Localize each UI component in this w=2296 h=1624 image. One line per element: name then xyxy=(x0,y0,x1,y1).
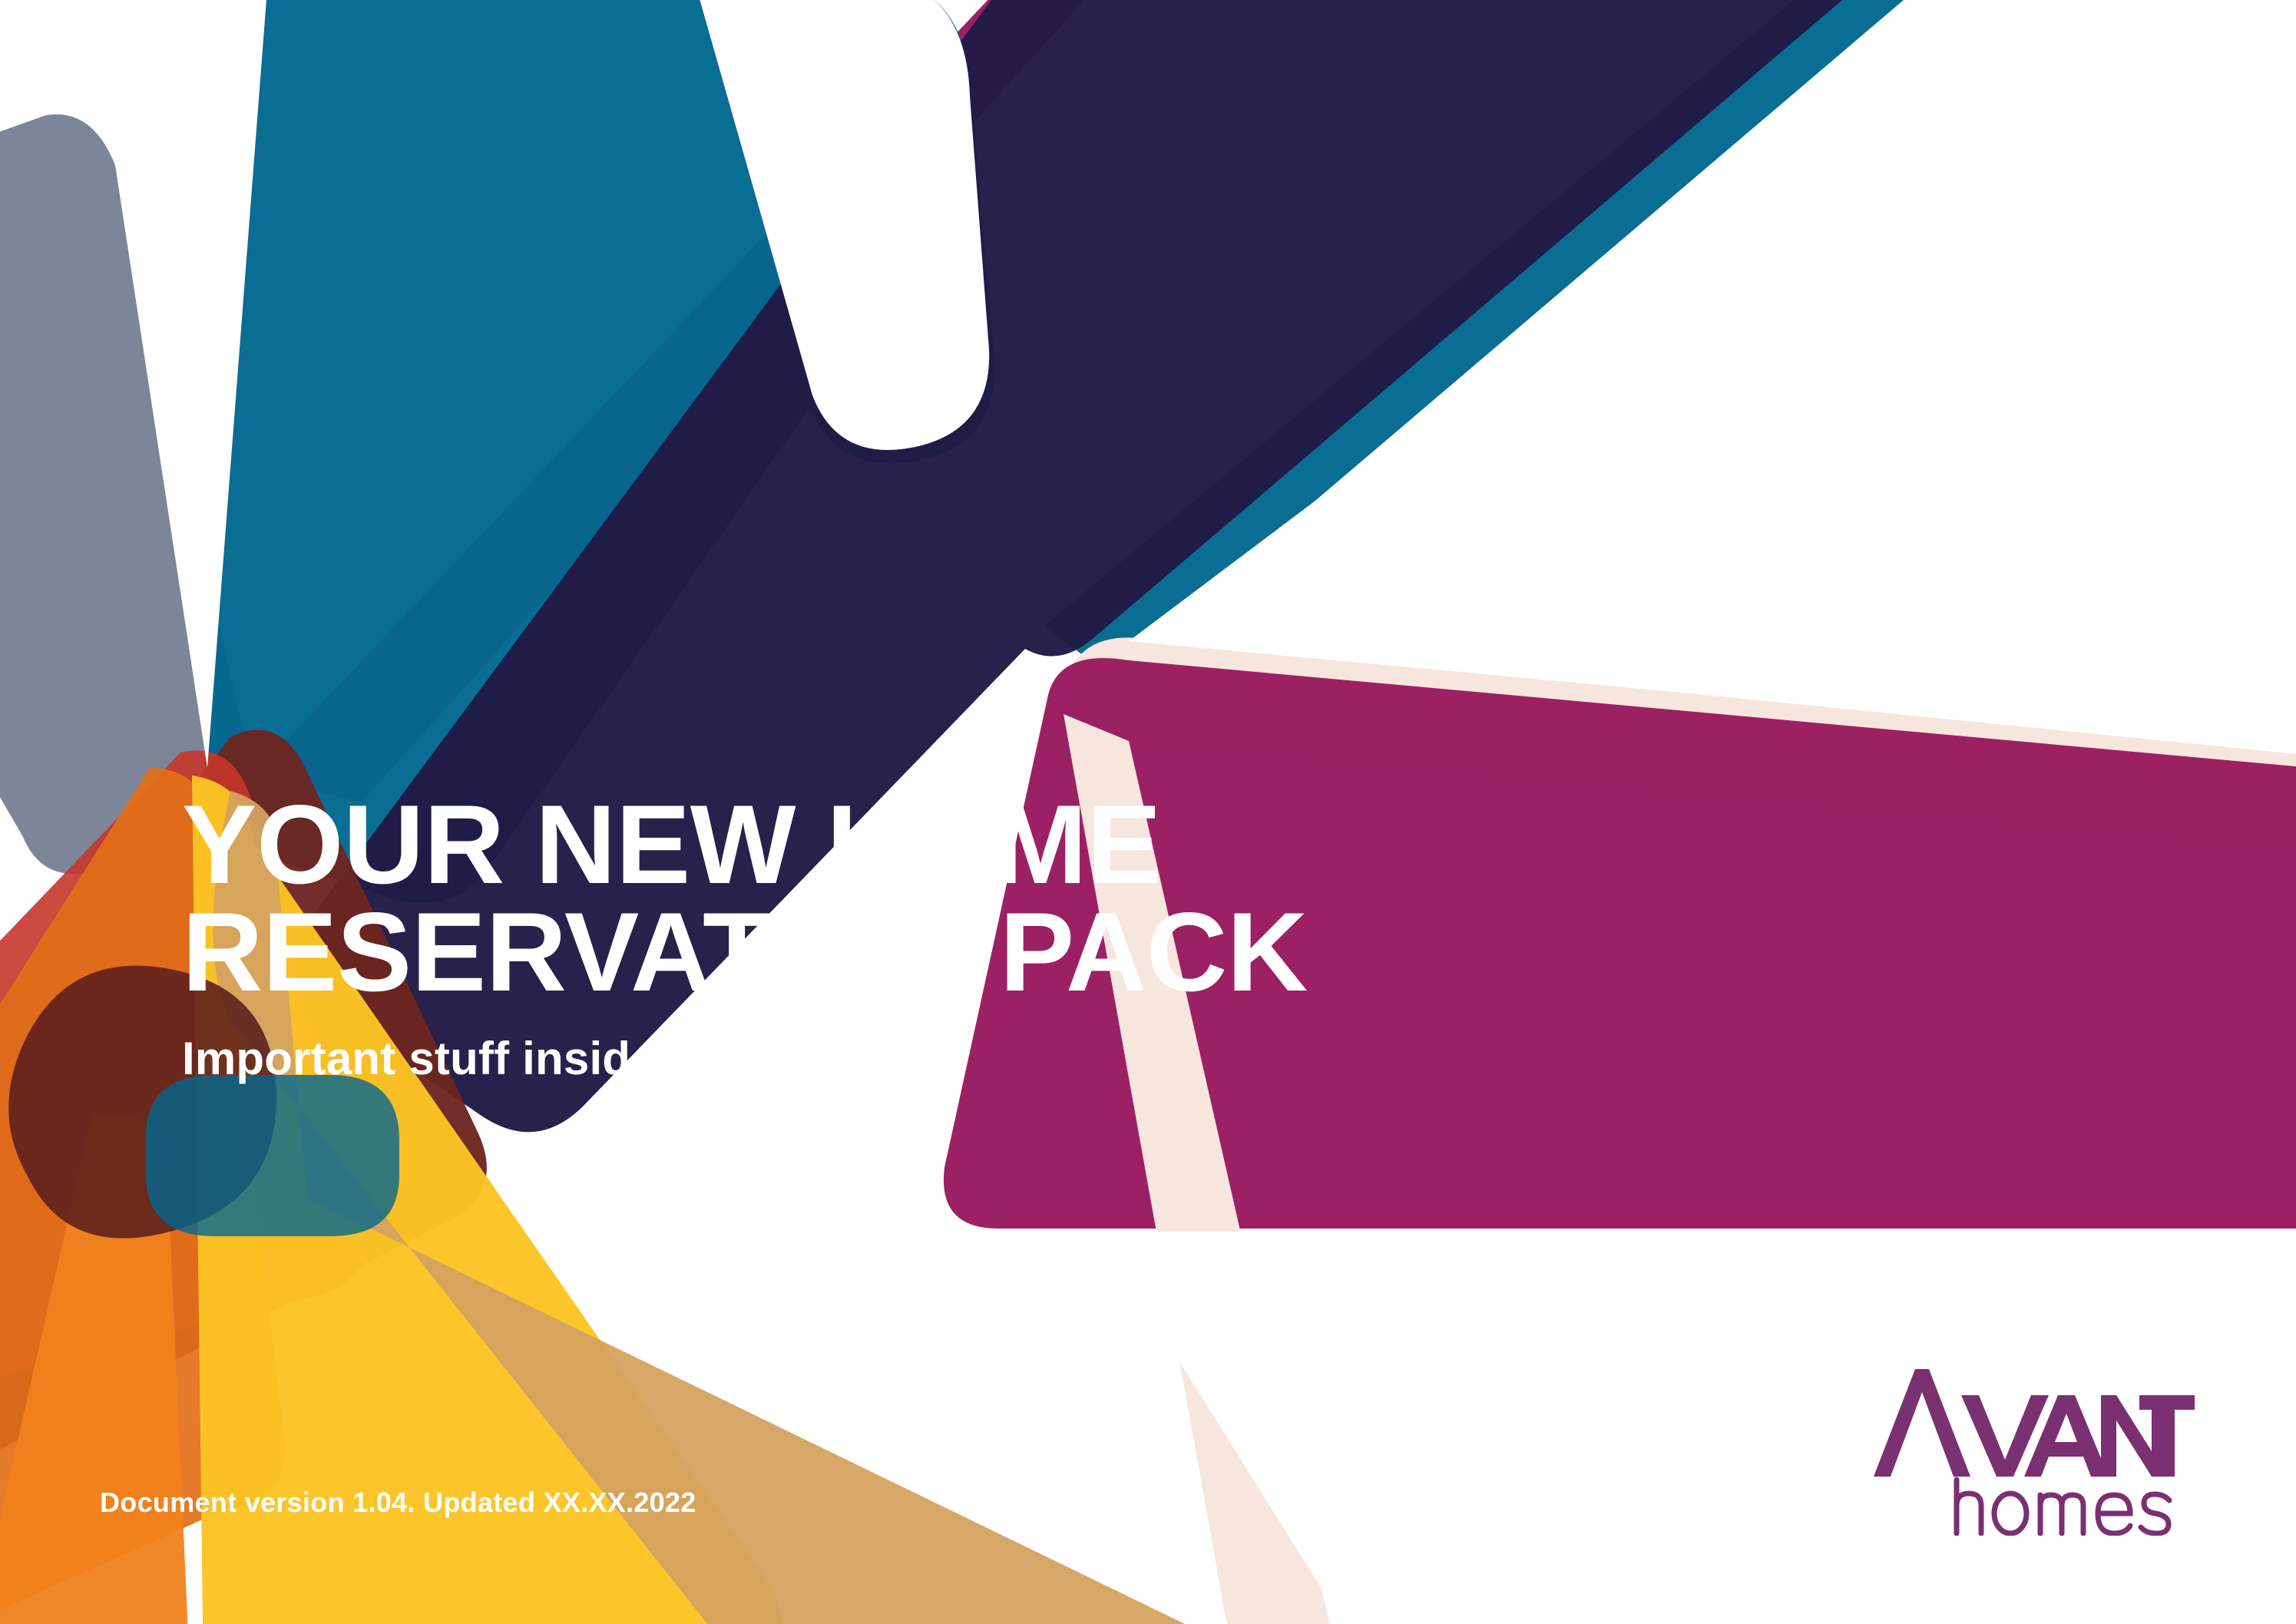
page-title: YOUR NEW HOME RESERVATION PACK xyxy=(182,791,1718,1006)
logo-wordmark-homes xyxy=(1957,1480,2169,1533)
document-version-note: Document version 1.04. Updated XX.XX.202… xyxy=(100,1487,696,1519)
avant-homes-logo-mark xyxy=(1866,1363,2196,1536)
logo-wordmark-avant xyxy=(1874,1369,2195,1477)
title-block: YOUR NEW HOME RESERVATION PACK Important… xyxy=(182,791,1718,1084)
avant-homes-logo xyxy=(1866,1363,2196,1536)
cover-page: YOUR NEW HOME RESERVATION PACK Important… xyxy=(0,0,2296,1624)
cover-content: YOUR NEW HOME RESERVATION PACK Important… xyxy=(0,0,2296,1624)
page-subtitle: Important stuff inside xyxy=(182,1034,1718,1084)
